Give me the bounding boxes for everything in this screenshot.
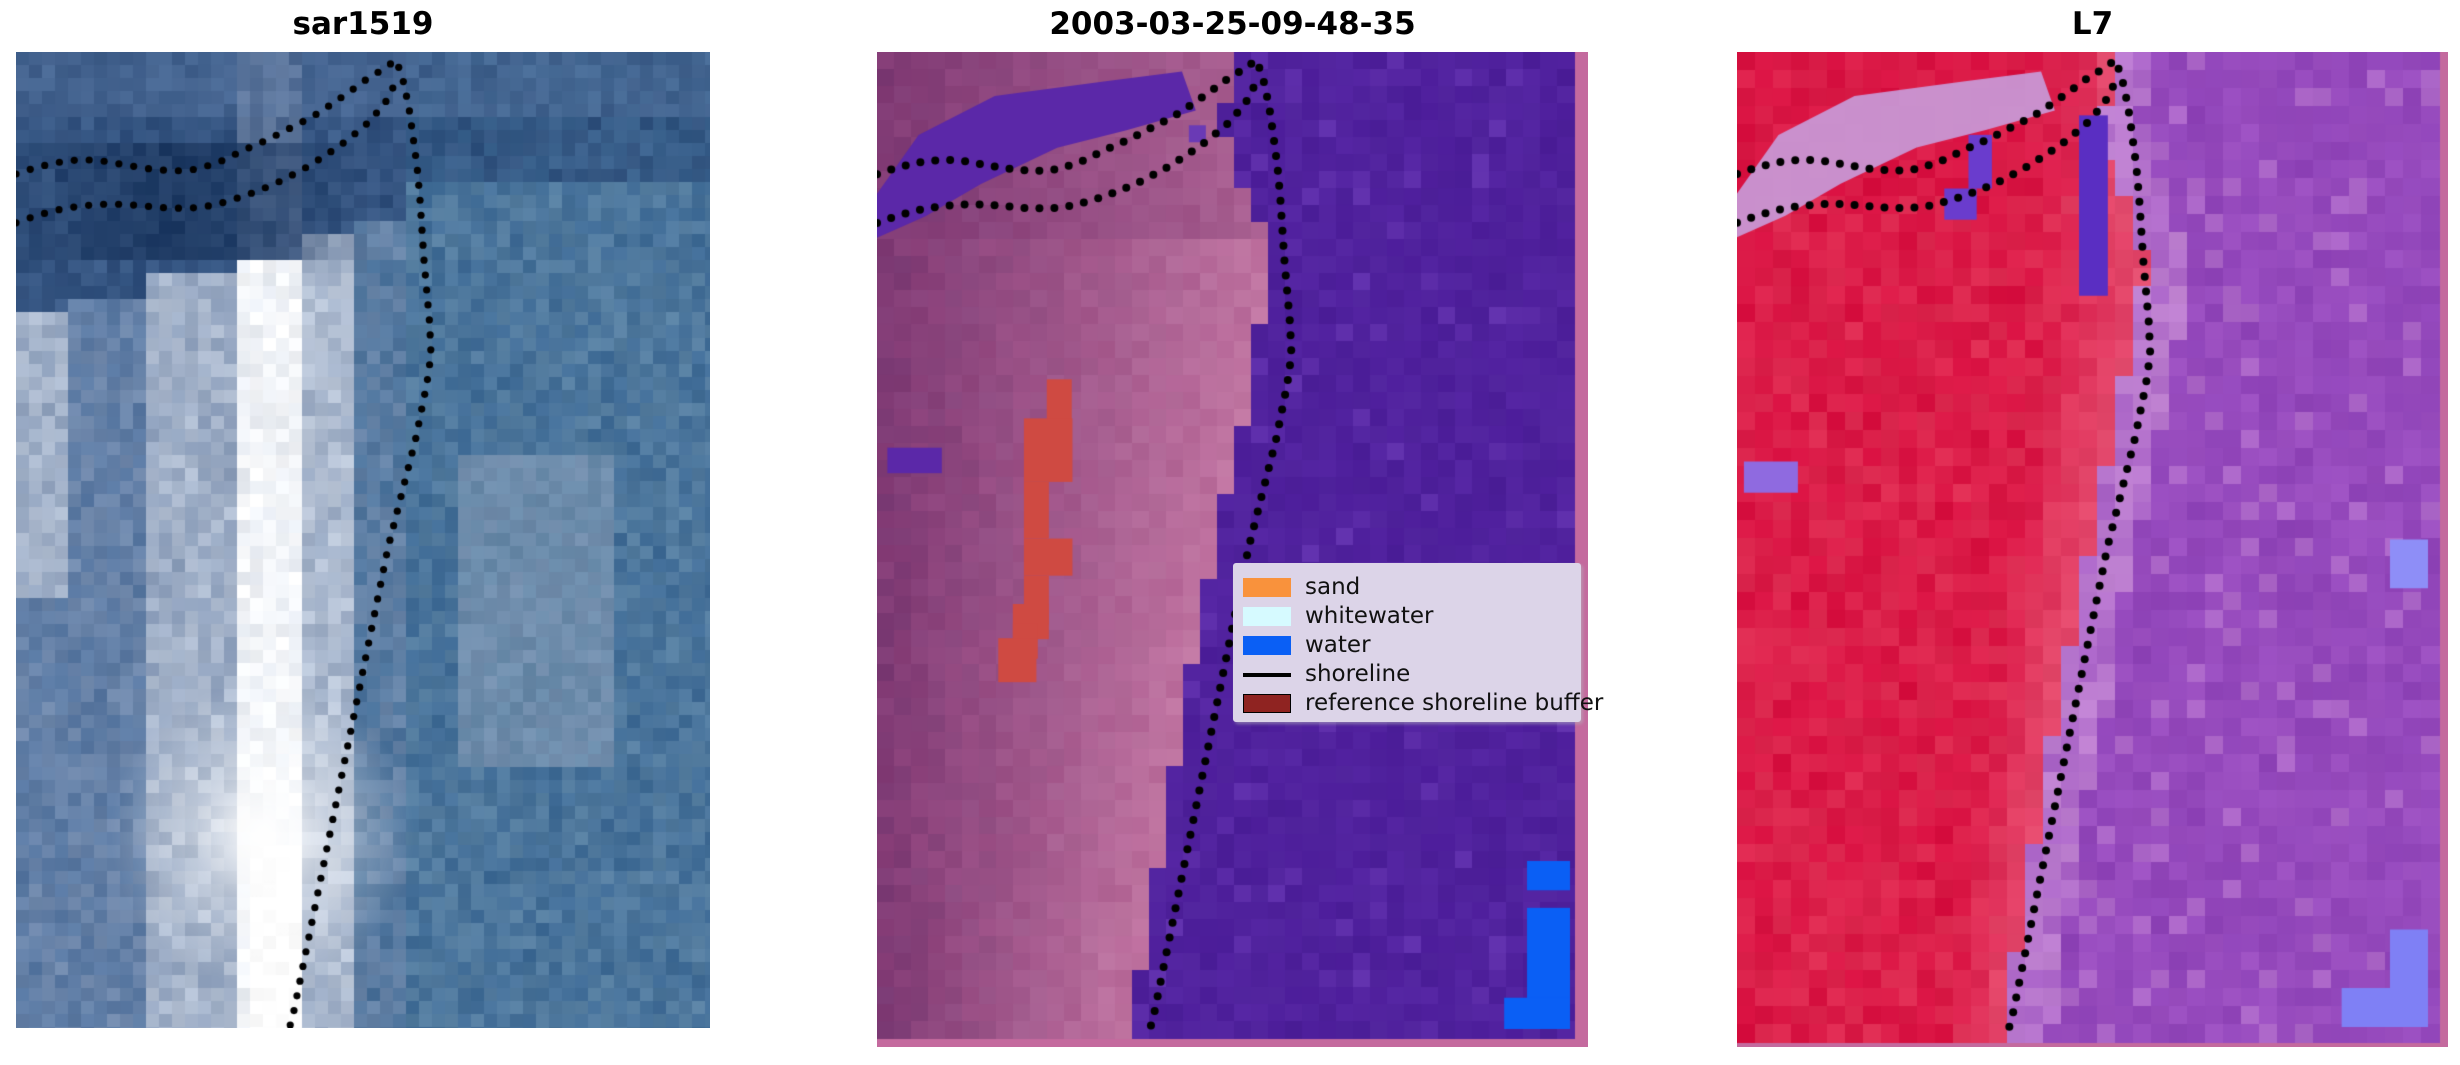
legend-label-sand: sand — [1305, 573, 1360, 602]
panel-2003-03-25-09-48-35: 2003-03-25-09-48-35 — [877, 0, 1588, 1065]
legend-label-whitewater: whitewater — [1305, 602, 1433, 631]
reference-buffer-swatch-icon — [1243, 694, 1291, 713]
legend-item-reference-shoreline-buffer: reference shoreline buffer — [1243, 689, 1569, 718]
panel-sar1519: sar1519 — [16, 0, 710, 1065]
water-swatch-icon — [1243, 636, 1291, 655]
legend-item-whitewater: whitewater — [1243, 602, 1569, 631]
legend: sand whitewater water shoreline referenc… — [1233, 563, 1581, 722]
classified-image-2[interactable] — [877, 52, 1588, 1047]
panel-l7: L7 — [1737, 0, 2448, 1065]
image-axes-1[interactable] — [16, 52, 710, 1028]
legend-label-shoreline: shoreline — [1305, 660, 1410, 689]
sar-image-1[interactable] — [16, 52, 710, 1028]
shoreline-line-icon — [1243, 673, 1291, 677]
legend-item-sand: sand — [1243, 573, 1569, 602]
legend-item-water: water — [1243, 631, 1569, 660]
panel-title-2: 2003-03-25-09-48-35 — [877, 4, 1588, 44]
figure-root: sar1519 2003-03-25-09-48-35 L7 sand whit… — [0, 0, 2460, 1065]
image-axes-2[interactable] — [877, 52, 1588, 1047]
legend-item-shoreline: shoreline — [1243, 660, 1569, 689]
landsat-image-3[interactable] — [1737, 52, 2448, 1047]
panel-title-3: L7 — [1737, 4, 2448, 44]
whitewater-swatch-icon — [1243, 607, 1291, 626]
panel-title-1: sar1519 — [16, 4, 710, 44]
image-axes-3[interactable] — [1737, 52, 2448, 1047]
legend-label-water: water — [1305, 631, 1371, 660]
legend-label-reference-shoreline-buffer: reference shoreline buffer — [1305, 689, 1603, 718]
sand-swatch-icon — [1243, 578, 1291, 597]
